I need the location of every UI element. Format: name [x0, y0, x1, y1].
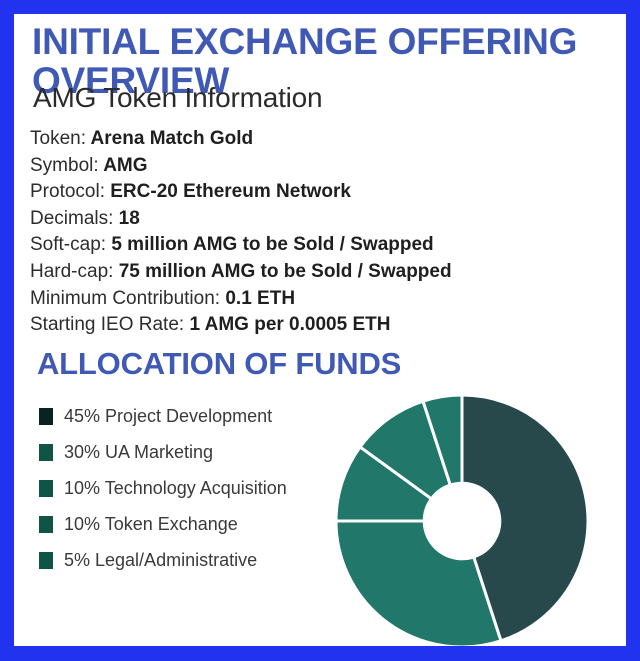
token-info-row: Symbol: AMG	[30, 153, 590, 180]
token-info-value: 5 million AMG to be Sold / Swapped	[106, 234, 434, 255]
infographic-card: INITIAL EXCHANGE OFFERING OVERVIEW AMG T…	[14, 14, 626, 646]
token-info-label: Protocol:	[30, 181, 105, 202]
token-info-label: Symbol:	[30, 155, 99, 176]
token-info-label: Starting IEO Rate:	[30, 314, 184, 335]
token-info-label: Hard-cap:	[30, 261, 113, 282]
legend-item-label: 5% Legal/Administrative	[64, 550, 257, 571]
legend-item-label: 10% Token Exchange	[64, 514, 238, 535]
page-subtitle: AMG Token Information	[33, 82, 322, 114]
token-info-value: ERC-20 Ethereum Network	[105, 181, 351, 202]
token-info-label: Soft-cap:	[30, 234, 106, 255]
token-info-label: Decimals:	[30, 208, 113, 229]
allocation-legend: 45% Project Development30% UA Marketing1…	[39, 398, 339, 578]
token-info-value: 1 AMG per 0.0005 ETH	[184, 314, 390, 335]
legend-item: 45% Project Development	[39, 398, 339, 434]
legend-item-label: 45% Project Development	[64, 406, 272, 427]
legend-color-swatch	[39, 516, 53, 533]
token-info-list: Token: Arena Match GoldSymbol: AMGProtoc…	[30, 126, 590, 339]
legend-color-swatch	[39, 408, 53, 425]
token-info-value: 18	[113, 208, 139, 229]
legend-item: 10% Token Exchange	[39, 506, 339, 542]
legend-color-swatch	[39, 480, 53, 497]
token-info-row: Hard-cap: 75 million AMG to be Sold / Sw…	[30, 259, 590, 286]
token-info-row: Decimals: 18	[30, 206, 590, 233]
token-info-row: Soft-cap: 5 million AMG to be Sold / Swa…	[30, 232, 590, 259]
legend-item: 30% UA Marketing	[39, 434, 339, 470]
legend-color-swatch	[39, 552, 53, 569]
token-info-value: 0.1 ETH	[220, 288, 295, 309]
token-info-row: Protocol: ERC-20 Ethereum Network	[30, 179, 590, 206]
token-info-label: Token:	[30, 128, 86, 149]
token-info-row: Token: Arena Match Gold	[30, 126, 590, 153]
token-info-label: Minimum Contribution:	[30, 288, 220, 309]
legend-item-label: 10% Technology Acquisition	[64, 478, 287, 499]
token-info-row: Minimum Contribution: 0.1 ETH	[30, 286, 590, 313]
legend-item: 10% Technology Acquisition	[39, 470, 339, 506]
token-info-row: Starting IEO Rate: 1 AMG per 0.0005 ETH	[30, 312, 590, 339]
allocation-heading: ALLOCATION OF FUNDS	[37, 346, 401, 382]
donut-svg	[336, 395, 588, 646]
token-info-value: Arena Match Gold	[86, 128, 253, 149]
allocation-donut-chart	[336, 395, 588, 646]
token-info-value: 75 million AMG to be Sold / Swapped	[113, 261, 451, 282]
token-info-value: AMG	[99, 155, 148, 176]
legend-color-swatch	[39, 444, 53, 461]
donut-slice	[336, 521, 501, 646]
legend-item: 5% Legal/Administrative	[39, 542, 339, 578]
legend-item-label: 30% UA Marketing	[64, 442, 213, 463]
